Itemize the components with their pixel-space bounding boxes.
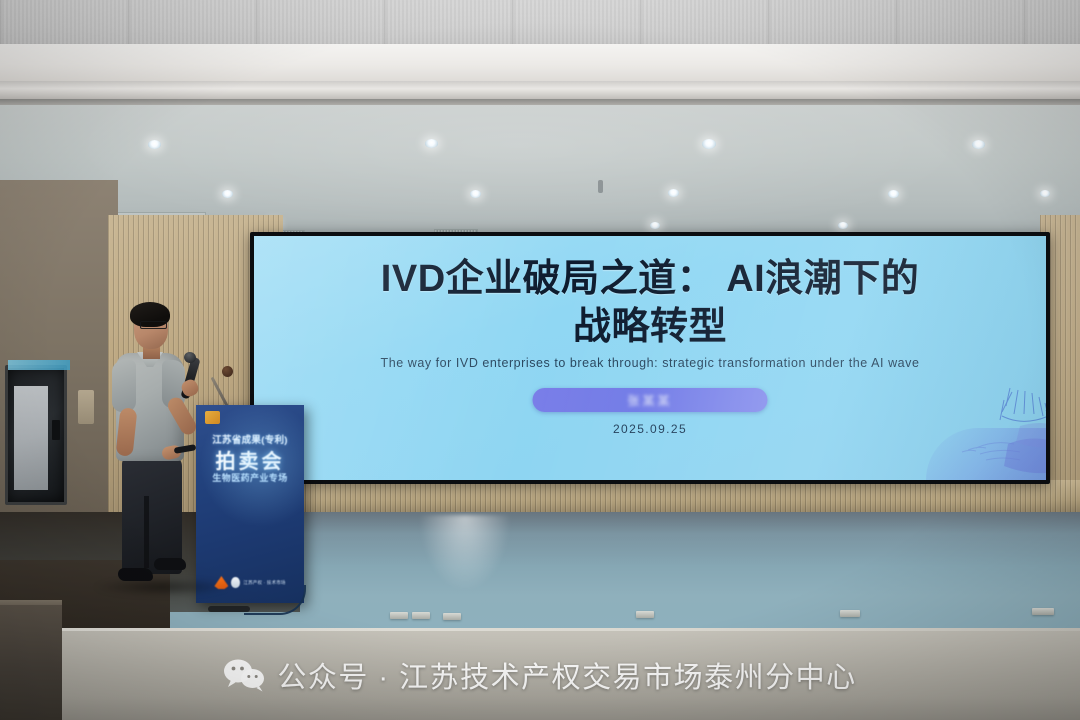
ceiling-downlight	[148, 140, 161, 149]
floor-light-reflection	[420, 515, 510, 590]
wood-wall-below-screen	[250, 480, 1080, 516]
cabinet-latch	[52, 420, 60, 440]
podium-emblem-icon	[205, 411, 220, 424]
ceiling-downlight	[668, 189, 679, 197]
presenter	[110, 300, 205, 595]
podium: 江苏省成果(专利) 拍卖会 生物医药产业专场 江苏产权 · 技术市场	[196, 405, 304, 603]
ceiling-downlight	[425, 139, 438, 148]
cabinet-top-trim	[8, 360, 70, 370]
podium-microphone-head	[222, 366, 233, 377]
slide-subtitle: The way for IVD enterprises to break thr…	[254, 356, 1046, 370]
floor-outlet	[390, 612, 408, 619]
floor-outlet	[636, 611, 654, 618]
ceiling-speaker	[598, 180, 603, 193]
podium-cable-segment	[208, 606, 250, 612]
ceiling-downlight	[888, 190, 899, 198]
ceiling-downlight	[222, 190, 233, 198]
projection-screen-frame: IVD企业破局之道： AI浪潮下的 战略转型 The way for IVD e…	[250, 232, 1050, 484]
projection-screen: IVD企业破局之道： AI浪潮下的 战略转型 The way for IVD e…	[254, 236, 1046, 480]
slide-date: 2025.09.25	[254, 422, 1046, 436]
slide-speaker-badge: 张某某	[533, 388, 768, 412]
ceiling-light-cove	[0, 81, 1080, 100]
cabinet-door-panel	[14, 386, 48, 490]
presenter-shoe-left	[118, 568, 153, 581]
floor-outlet	[1032, 608, 1054, 615]
podium-text-line-3: 生物医药产业专场	[196, 471, 304, 484]
presenter-leg-seam	[144, 496, 149, 568]
ceiling-downlight	[702, 139, 716, 149]
bulb-logo-icon	[231, 577, 240, 588]
ceiling-downlight	[1040, 190, 1050, 197]
ceiling-tiles	[0, 0, 1080, 46]
slide-speaker-name: 张某某	[627, 392, 672, 409]
ceiling-downlight	[838, 222, 848, 229]
stage-step	[0, 605, 62, 720]
presenter-sleeve-left	[112, 360, 136, 412]
floor-outlet	[840, 610, 860, 617]
wall-switch-plate	[78, 390, 94, 424]
wall-mounted-control-cabinet	[5, 365, 67, 505]
conference-photo-scene: IVD企业破局之道： AI浪潮下的 战略转型 The way for IVD e…	[0, 0, 1080, 720]
presenter-shoe-right	[154, 558, 186, 570]
podium-text-line-1: 江苏省成果(专利)	[196, 432, 304, 446]
ceiling-beam	[0, 44, 1080, 82]
floor-outlet	[412, 612, 430, 619]
ceiling-downlight	[650, 222, 660, 229]
presenter-trousers	[122, 456, 182, 574]
podium-text-line-2: 拍卖会	[196, 445, 304, 474]
floor-outlet	[443, 613, 461, 620]
ceiling-downlight	[470, 190, 481, 198]
glasses-icon	[140, 321, 167, 329]
slide-title-line-1: IVD企业破局之道： AI浪潮下的	[254, 258, 1046, 301]
slide-title-line-2: 战略转型	[254, 306, 1046, 349]
ceiling-downlight	[972, 140, 985, 149]
stage-front-face	[0, 628, 1080, 720]
